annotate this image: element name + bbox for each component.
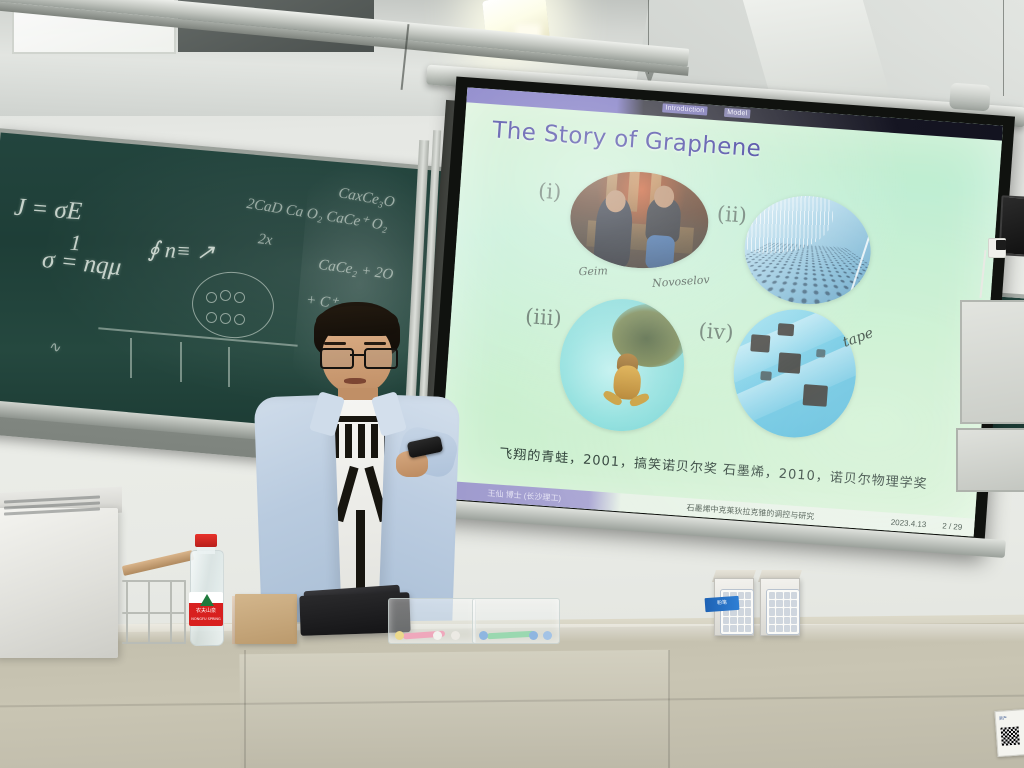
graphite-flake-1 bbox=[750, 334, 771, 352]
wire-rack-bar-3 bbox=[122, 642, 186, 644]
chalk-nub-blue-3 bbox=[543, 631, 552, 640]
chalk-stick-green bbox=[487, 631, 535, 640]
chalk-nub-yellow bbox=[395, 631, 404, 640]
lattice-fold-edge bbox=[849, 225, 874, 297]
presenter-mouth bbox=[344, 378, 366, 384]
wire-rack-bar-2 bbox=[122, 612, 186, 614]
glasses-icon bbox=[320, 348, 394, 365]
qr-code-icon bbox=[1001, 727, 1020, 746]
podium-front-panel bbox=[239, 650, 670, 768]
panel-i-name-novoselov: Novoselov bbox=[652, 273, 710, 290]
panel-marker-iv: (iv) bbox=[698, 319, 735, 345]
presenter-hair-front bbox=[316, 306, 398, 336]
mountain-logo-icon bbox=[200, 594, 214, 606]
equipment-cabinet[interactable] bbox=[0, 508, 118, 658]
graphite-flake-4 bbox=[802, 384, 828, 406]
screen-roller-end-cap bbox=[949, 83, 991, 112]
chalk-molecule-c bbox=[234, 292, 245, 303]
chalk-molecule-f bbox=[234, 314, 245, 325]
graphite-flake-6 bbox=[816, 349, 826, 357]
chalk-nub-blue-1 bbox=[479, 631, 488, 640]
chalk-tray-left[interactable] bbox=[388, 598, 476, 644]
chalk-tick-3 bbox=[228, 347, 230, 387]
power-plug-icon bbox=[996, 240, 1006, 250]
graphite-flake-5 bbox=[760, 371, 772, 381]
panel-iii-frog bbox=[555, 295, 688, 436]
panel-iv-tape bbox=[729, 305, 860, 441]
wire-rack-post-3 bbox=[170, 580, 172, 644]
bottle-brand-cn: 农夫山泉 bbox=[190, 608, 222, 614]
slide-title: The Story of Graphene bbox=[491, 117, 762, 162]
presenter-brow-left bbox=[324, 342, 346, 345]
presentation-slide[interactable]: Introduction Model The Story of Graphene… bbox=[438, 87, 1003, 536]
graphite-flake-3 bbox=[778, 324, 795, 337]
panel-ii-lattice bbox=[741, 192, 874, 309]
chalk-molecule-d bbox=[206, 312, 217, 323]
presenter bbox=[250, 296, 460, 636]
panel-marker-ii: (ii) bbox=[716, 202, 747, 228]
chalk-molecule-e bbox=[220, 313, 231, 324]
chalk-tick-1 bbox=[130, 338, 132, 378]
glasses-bridge bbox=[350, 354, 364, 356]
panel-i-name-geim: Geim bbox=[578, 264, 608, 278]
chalk-tick-2 bbox=[180, 342, 182, 382]
wire-rack-post-2 bbox=[148, 580, 150, 644]
chalk-tray-right[interactable] bbox=[472, 598, 560, 644]
chalk-molecule-b bbox=[220, 290, 231, 301]
lattice-wave-surface bbox=[741, 193, 835, 255]
bottle-brand-en: NONGFU SPRING bbox=[190, 616, 222, 622]
wall-cabinet-upper[interactable] bbox=[960, 300, 1024, 424]
hanging-wire-2 bbox=[1003, 0, 1004, 96]
glasses-lens-right bbox=[364, 348, 398, 369]
asset-tag-label: 资产 bbox=[999, 714, 1023, 724]
classroom-photo: J = σE 1 σ = nqμ ∮ n≡ ↗ 2CaD Ca O₂ CaCe⁺… bbox=[0, 0, 1024, 768]
wall-cabinet-lower[interactable] bbox=[956, 428, 1024, 492]
podium-seam-right bbox=[668, 650, 670, 768]
chalk-nub-white-1 bbox=[433, 631, 442, 640]
cardboard-box[interactable] bbox=[235, 594, 297, 644]
chalk-box-1[interactable]: 粉笔 bbox=[714, 578, 754, 636]
bottle-cap bbox=[195, 534, 217, 547]
chalk-nub-blue-2 bbox=[529, 631, 538, 640]
bottle-neck bbox=[197, 546, 215, 554]
wire-rack-post-4 bbox=[184, 580, 186, 644]
glasses-lens-left bbox=[320, 348, 354, 369]
chalk-nub-white-2 bbox=[451, 631, 460, 640]
qr-asset-tag: 资产 bbox=[994, 709, 1024, 757]
slide-caption: 飞翔的青蛙，2001，搞笑诺贝尔奖 石墨烯，2010，诺贝尔物理学奖 bbox=[499, 443, 929, 493]
water-bottle[interactable]: 农夫山泉 NONGFU SPRING bbox=[188, 534, 224, 644]
panel-marker-iii: (iii) bbox=[524, 304, 562, 331]
graphite-flake-2 bbox=[778, 352, 801, 374]
chalk-molecule-a bbox=[206, 292, 217, 303]
podium-seam-left bbox=[244, 650, 246, 768]
nav-tab-model[interactable]: Model bbox=[724, 108, 751, 119]
panel-i-photo bbox=[567, 167, 712, 273]
chalk-box-2[interactable] bbox=[760, 578, 800, 636]
photo-jeans-novoselov bbox=[645, 235, 675, 271]
presenter-brow-right bbox=[364, 342, 386, 345]
wire-rack-bar-1 bbox=[122, 580, 186, 582]
chalk-box-2-grid bbox=[766, 589, 800, 635]
panel-marker-i: (i) bbox=[537, 179, 562, 205]
wire-rack-post-1 bbox=[126, 580, 128, 644]
footer-date: 2023.4.13 bbox=[891, 517, 943, 530]
footer-page-number: 2 / 29 bbox=[942, 521, 975, 532]
